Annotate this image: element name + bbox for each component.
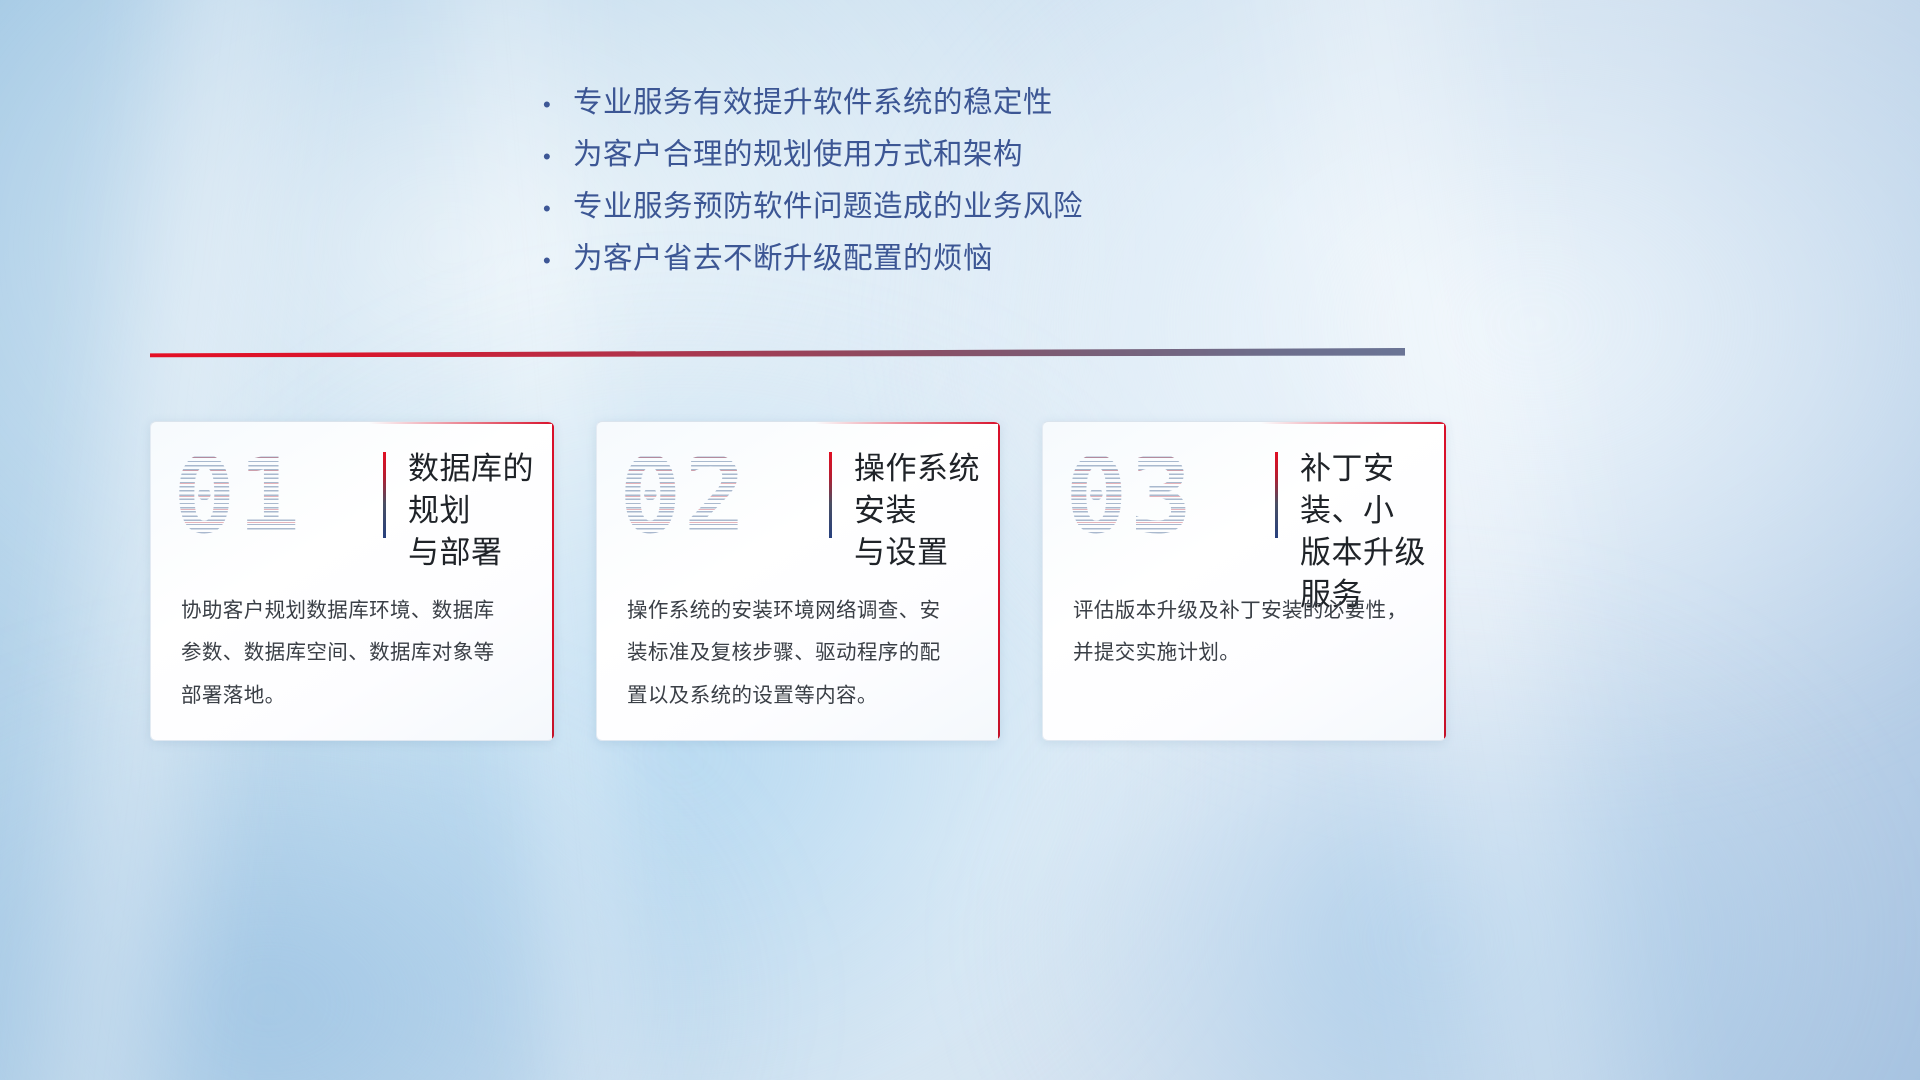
card-number-ghost-tint: 02 [619, 444, 748, 548]
bullet-dot-icon: • [543, 146, 573, 168]
card-header: 01 01 数据库的规划 与部署 [151, 422, 554, 582]
bullet-text: 为客户省去不断升级配置的烦恼 [573, 244, 993, 274]
service-card-01[interactable]: 01 01 数据库的规划 与部署 协助客户规划数据库环境、数据库 参数、数据库空… [150, 421, 554, 741]
card-header: 02 02 操作系统安装 与设置 [597, 422, 1000, 582]
bullet-text: 专业服务有效提升软件系统的稳定性 [573, 88, 1053, 118]
bullet-dot-icon: • [543, 198, 573, 220]
list-item: • 为客户合理的规划使用方式和架构 [543, 140, 1023, 192]
card-title: 数据库的规划 与部署 [408, 448, 554, 574]
card-title: 操作系统安装 与设置 [854, 448, 1000, 574]
title-accent-bar-icon [383, 452, 386, 538]
card-number-ghost-tint: 03 [1065, 444, 1194, 548]
card-body-text: 操作系统的安装环境网络调查、安 装标准及复核步骤、驱动程序的配 置以及系统的设置… [627, 590, 972, 717]
benefits-bullet-list: • 专业服务有效提升软件系统的稳定性 • 为客户合理的规划使用方式和架构 • 专… [0, 88, 1920, 296]
card-body-text: 评估版本升级及补丁安装的必要性， 并提交实施计划。 [1073, 590, 1418, 675]
service-cards-row: 01 01 数据库的规划 与部署 协助客户规划数据库环境、数据库 参数、数据库空… [150, 421, 1605, 741]
bullet-dot-icon: • [543, 250, 573, 272]
card-title-group: 操作系统安装 与设置 [829, 448, 1000, 574]
service-card-03[interactable]: 03 03 补丁安装、小 版本升级服务 评估版本升级及补丁安装的必要性， 并提交… [1042, 421, 1446, 741]
bullet-text: 专业服务预防软件问题造成的业务风险 [573, 192, 1083, 222]
title-accent-bar-icon [1275, 452, 1278, 538]
section-divider [150, 348, 1405, 362]
list-item: • 专业服务有效提升软件系统的稳定性 [543, 88, 1053, 140]
service-card-02[interactable]: 02 02 操作系统安装 与设置 操作系统的安装环境网络调查、安 装标准及复核步… [596, 421, 1000, 741]
card-body-text: 协助客户规划数据库环境、数据库 参数、数据库空间、数据库对象等 部署落地。 [181, 590, 526, 717]
title-accent-bar-icon [829, 452, 832, 538]
card-number-ghost-tint: 01 [173, 444, 302, 548]
bullet-text: 为客户合理的规划使用方式和架构 [573, 140, 1023, 170]
card-title-group: 数据库的规划 与部署 [383, 448, 554, 574]
card-header: 03 03 补丁安装、小 版本升级服务 [1043, 422, 1446, 582]
list-item: • 专业服务预防软件问题造成的业务风险 [543, 192, 1083, 244]
bullet-dot-icon: • [543, 94, 573, 116]
list-item: • 为客户省去不断升级配置的烦恼 [543, 244, 993, 296]
